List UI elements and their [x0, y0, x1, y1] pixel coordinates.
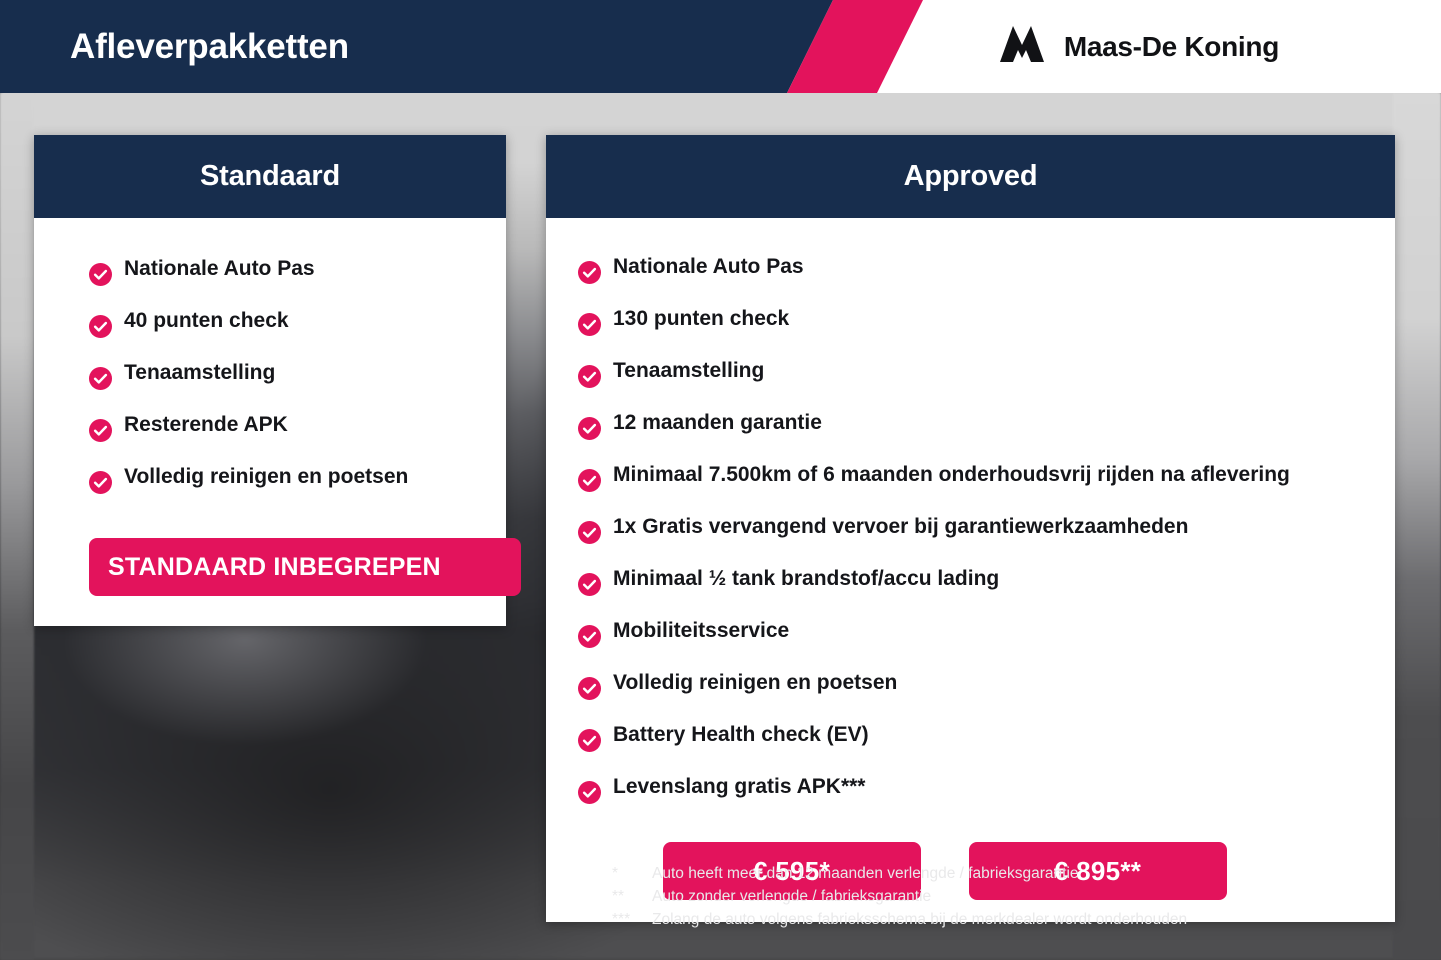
check-circle-icon [578, 725, 601, 766]
feature-label: Minimaal 7.500km of 6 maanden onderhouds… [613, 454, 1290, 495]
feature-label: Resterende APK [124, 404, 288, 445]
feature-label: Tenaamstelling [124, 352, 275, 393]
check-circle-icon [578, 569, 601, 610]
feature-label: 40 punten check [124, 300, 289, 341]
check-circle-icon [89, 467, 112, 508]
feature-list-approved: Nationale Auto Pas 130 punten check Tena… [546, 246, 1395, 818]
footnote-single-asterisk: * Auto heeft meer dan 12 maanden verleng… [612, 862, 1372, 885]
check-circle-icon [578, 309, 601, 350]
feature-label: Volledig reinigen en poetsen [613, 662, 897, 703]
check-circle-icon [578, 257, 601, 298]
check-circle-icon [578, 413, 601, 454]
check-circle-icon [578, 361, 601, 402]
footnote-marker: * [612, 862, 652, 885]
check-circle-icon [578, 621, 601, 662]
check-circle-icon [578, 517, 601, 558]
footnote-marker: *** [612, 908, 652, 931]
list-item: Mobiliteitsservice [546, 610, 1395, 662]
check-circle-icon [89, 259, 112, 300]
footnote-triple-asterisk: *** Zolang de auto volgens fabrieksschem… [612, 908, 1372, 931]
list-item: Volledig reinigen en poetsen [546, 662, 1395, 714]
check-circle-icon [89, 363, 112, 404]
page-header: Afleverpakketten Maas-De Koning [0, 0, 1441, 93]
brand-name: Maas-De Koning [1064, 31, 1279, 63]
list-item: Battery Health check (EV) [546, 714, 1395, 766]
list-item: 1x Gratis vervangend vervoer bij garanti… [546, 506, 1395, 558]
package-card-standaard: Standaard Nationale Auto Pas 40 punten c… [34, 135, 506, 626]
list-item: 12 maanden garantie [546, 402, 1395, 454]
card-body-standaard: Nationale Auto Pas 40 punten check Tenaa… [34, 218, 506, 626]
check-circle-icon [89, 311, 112, 352]
list-item: 40 punten check [34, 300, 506, 352]
feature-label: Minimaal ½ tank brandstof/accu lading [613, 558, 999, 599]
list-item: Tenaamstelling [34, 352, 506, 404]
check-circle-icon [578, 777, 601, 818]
footnotes: * Auto heeft meer dan 12 maanden verleng… [612, 862, 1372, 931]
feature-list-standaard: Nationale Auto Pas 40 punten check Tenaa… [34, 248, 506, 508]
standaard-inbegrepen-button[interactable]: STANDAARD INBEGREPEN [89, 538, 521, 596]
feature-label: 1x Gratis vervangend vervoer bij garanti… [613, 506, 1188, 547]
list-item: Nationale Auto Pas [546, 246, 1395, 298]
list-item: Minimaal ½ tank brandstof/accu lading [546, 558, 1395, 610]
list-item: Resterende APK [34, 404, 506, 456]
list-item: Minimaal 7.500km of 6 maanden onderhouds… [546, 454, 1395, 506]
feature-label: 12 maanden garantie [613, 402, 822, 443]
list-item: Volledig reinigen en poetsen [34, 456, 506, 508]
page-title: Afleverpakketten [70, 0, 349, 93]
maas-de-koning-m-logo-icon [996, 24, 1048, 69]
background-left-edge [0, 93, 34, 960]
card-title-approved: Approved [546, 135, 1395, 218]
feature-label: Nationale Auto Pas [124, 248, 315, 289]
feature-label: Volledig reinigen en poetsen [124, 456, 408, 497]
footnote-text: Auto heeft meer dan 12 maanden verlengde… [652, 862, 1079, 885]
check-circle-icon [578, 673, 601, 714]
list-item: Levenslang gratis APK*** [546, 766, 1395, 818]
feature-label: Battery Health check (EV) [613, 714, 869, 755]
brand-lockup: Maas-De Koning [996, 0, 1279, 93]
feature-label: Tenaamstelling [613, 350, 764, 391]
feature-label: Mobiliteitsservice [613, 610, 789, 651]
footnote-double-asterisk: ** Auto zonder verlengde / fabrieksgaran… [612, 885, 1372, 908]
card-body-approved: Nationale Auto Pas 130 punten check Tena… [546, 218, 1395, 922]
footnote-text: Zolang de auto volgens fabrieksschema bi… [652, 908, 1187, 931]
list-item: Nationale Auto Pas [34, 248, 506, 300]
card-title-standaard: Standaard [34, 135, 506, 218]
list-item: Tenaamstelling [546, 350, 1395, 402]
check-circle-icon [89, 415, 112, 456]
list-item: 130 punten check [546, 298, 1395, 350]
feature-label: Levenslang gratis APK*** [613, 766, 865, 807]
feature-label: Nationale Auto Pas [613, 246, 804, 287]
package-card-approved: Approved Nationale Auto Pas 130 punten c… [546, 135, 1395, 922]
footnote-text: Auto zonder verlengde / fabrieksgarantie [652, 885, 931, 908]
feature-label: 130 punten check [613, 298, 789, 339]
footnote-marker: ** [612, 885, 652, 908]
check-circle-icon [578, 465, 601, 506]
background-right-edge [1393, 93, 1441, 960]
